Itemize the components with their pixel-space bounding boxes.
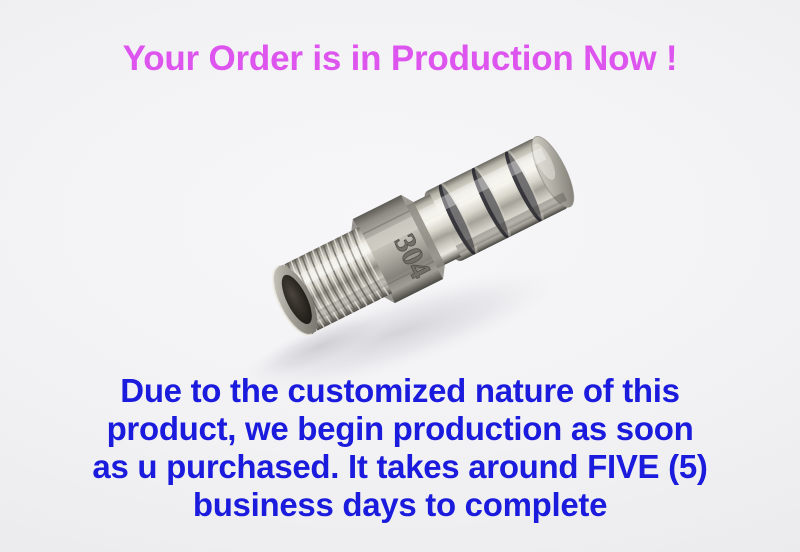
notice-line-2: product, we begin production as soon — [0, 410, 800, 448]
page-title: Your Order is in Production Now ! — [0, 39, 800, 79]
production-notice-text: Due to the customized nature of this pro… — [0, 372, 800, 524]
notice-line-3: as u purchased. It takes around FIVE (5) — [0, 448, 800, 486]
notice-image: 304 — [0, 0, 800, 552]
notice-line-1: Due to the customized nature of this — [0, 372, 800, 410]
notice-line-4: business days to complete — [0, 486, 800, 524]
